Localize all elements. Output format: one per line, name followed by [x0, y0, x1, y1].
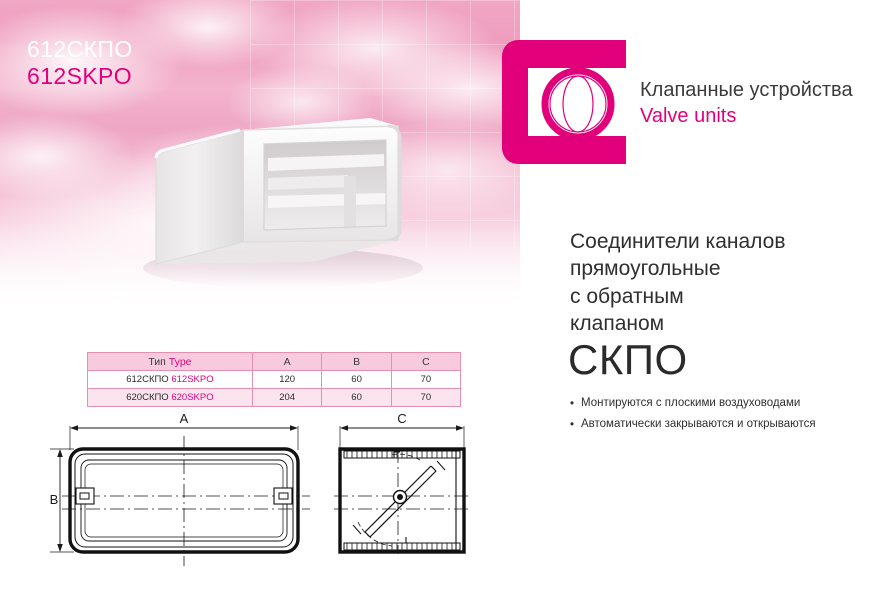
cell-type: 612СКПО 612SKPO — [88, 371, 253, 389]
feature-bullet: • Автоматически закрываются и открываютс… — [570, 417, 870, 431]
valve-circle-icon — [540, 66, 616, 142]
hero-photo-area: 612СКПО 612SKPO — [0, 0, 520, 340]
column-header-type-ru: Тип — [148, 356, 166, 368]
category-label: Клапанные устройства Valve units — [640, 78, 853, 129]
feature-bullets: • Монтируются с плоскими воздуховодами •… — [570, 396, 870, 439]
feature-bullet-text: Автоматически закрываются и открываются — [581, 418, 816, 430]
svg-text:A: A — [180, 411, 189, 426]
svg-text:C: C — [397, 411, 406, 426]
specifications-table: Тип Type A B C 612СКПО 612SKPO 120 60 70 — [87, 352, 461, 407]
description-line-4: клапаном — [570, 310, 870, 337]
cell-a: 120 — [252, 371, 322, 389]
table-header-row: Тип Type A B C — [88, 353, 461, 371]
product-code: СКПО — [568, 336, 688, 384]
hero-title: 612СКПО 612SKPO — [27, 36, 133, 90]
column-header-a: A — [252, 353, 322, 371]
description-line-3: с обратным — [570, 283, 870, 310]
column-header-c: C — [391, 353, 460, 371]
product-photo — [98, 92, 458, 302]
column-header-b: B — [322, 353, 391, 371]
cell-c: 70 — [391, 371, 460, 389]
side-view-valve-flap: C — [334, 411, 472, 554]
product-description: Соединители каналов прямоугольные с обра… — [570, 228, 870, 337]
category-label-ru: Клапанные устройства — [640, 78, 853, 104]
svg-text:B: B — [50, 492, 59, 507]
column-header-type-en: Type — [169, 356, 192, 368]
front-view: A B — [50, 411, 310, 566]
cell-type-ru: 612СКПО — [126, 374, 168, 385]
cell-b: 60 — [322, 371, 391, 389]
cell-type-ru: 620СКПО — [126, 392, 168, 403]
table-row: 612СКПО 612SKPO 120 60 70 — [88, 371, 461, 389]
hero-title-ru: 612СКПО — [27, 36, 133, 63]
bullet-marker-icon: • — [570, 418, 574, 432]
technical-drawings: A B — [48, 404, 508, 584]
description-line-1: Соединители каналов — [570, 228, 870, 255]
feature-bullet: • Монтируются с плоскими воздуховодами — [570, 396, 870, 410]
description-line-2: прямоугольные — [570, 255, 870, 282]
product-datasheet-page: 612СКПО 612SKPO Клапанные устройства Val… — [0, 0, 879, 595]
feature-bullet-text: Монтируются с плоскими воздуховодами — [581, 397, 800, 409]
cell-type-en: 620SKPO — [171, 392, 213, 403]
column-header-type: Тип Type — [88, 353, 253, 371]
bullet-marker-icon: • — [570, 397, 574, 411]
category-label-en: Valve units — [640, 104, 853, 130]
cell-type-en: 612SKPO — [171, 374, 213, 385]
hero-title-en: 612SKPO — [27, 63, 133, 90]
